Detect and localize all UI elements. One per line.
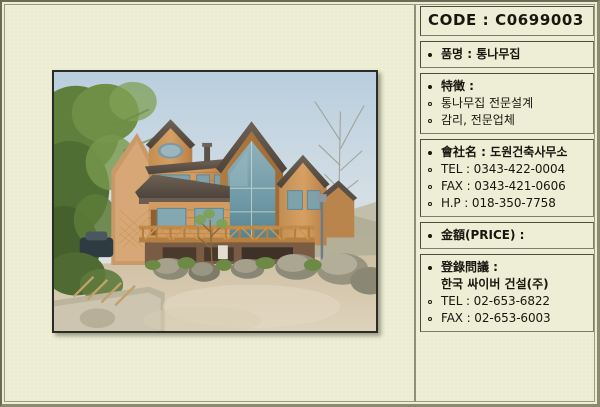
column-divider [414,5,416,402]
list-item: 特徵 : [425,78,590,95]
code-panel: CODE : C0699003 [420,6,594,36]
list-item: 품명 : 통나무집 [425,46,590,63]
photo-column [2,2,414,405]
company-fax: FAX : 0343-421-0606 [425,178,590,195]
list-item: 金額(PRICE) : [425,227,590,244]
company-tel: TEL : 0343-422-0004 [425,161,590,178]
info-column: CODE : C0699003 품명 : 통나무집 特徵 : 통나무집 전문설계… [420,6,594,403]
registration-panel: 登錄問議 : 한국 싸이버 건설(주) TEL : 02-653-6822 FA… [420,254,594,332]
price-panel: 金額(PRICE) : [420,222,594,249]
product-listing-page: CODE : C0699003 품명 : 통나무집 特徵 : 통나무집 전문설계… [0,0,600,407]
price-list: 金額(PRICE) : [425,227,590,244]
features-list: 特徵 : 통나무집 전문설계 감리, 전문업체 [425,78,590,129]
list-item: 통나무집 전문설계 [425,95,590,112]
company-panel: 會社名 : 도원건축사무소 TEL : 0343-422-0004 FAX : … [420,139,594,217]
list-item: 감리, 전문업체 [425,112,590,129]
photo-image [54,72,376,331]
list-item: 會社名 : 도원건축사무소 [425,144,590,161]
log-house-exterior-photo [52,70,378,333]
features-panel: 特徵 : 통나무집 전문설계 감리, 전문업체 [420,73,594,134]
registration-company: 한국 싸이버 건설(주) [425,276,590,293]
registration-fax: FAX : 02-653-6003 [425,310,590,327]
company-mobile: H.P : 018-350-7758 [425,195,590,212]
code-text: CODE : C0699003 [428,11,590,30]
registration-tel: TEL : 02-653-6822 [425,293,590,310]
registration-list: 登錄問議 : 한국 싸이버 건설(주) TEL : 02-653-6822 FA… [425,259,590,327]
product-name-list: 품명 : 통나무집 [425,46,590,63]
list-item: 登錄問議 : [425,259,590,276]
company-list: 會社名 : 도원건축사무소 TEL : 0343-422-0004 FAX : … [425,144,590,212]
product-name-panel: 품명 : 통나무집 [420,41,594,68]
